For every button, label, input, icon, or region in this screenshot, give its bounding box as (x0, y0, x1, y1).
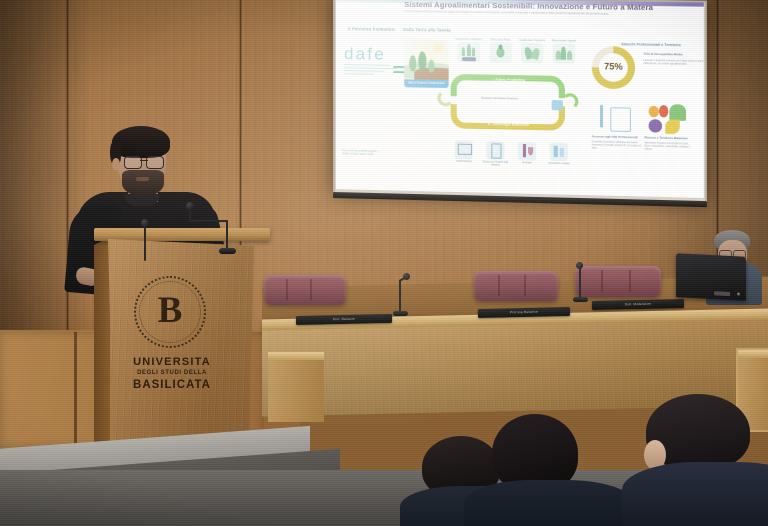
seal-letter: B (153, 292, 187, 332)
slide-section-kicker: Il Percorso Formativo: Dalla Terra alla … (348, 26, 451, 32)
small-icon-caption: Sicurezza e Qualita degli Alimenti (480, 161, 511, 168)
column-heading: Accesso agli Albi Professionali (592, 135, 642, 140)
panel-chair[interactable] (264, 275, 346, 305)
cycle-center-text: Struttura Interclasse Dinamica (481, 97, 538, 101)
donut-heading: 75% di Occupabilita Media (643, 53, 703, 58)
institution-line-3: BASILICATA (120, 378, 224, 392)
tree-icon (418, 51, 426, 70)
processing-icon (455, 141, 473, 160)
lab-illustration (596, 103, 644, 139)
podium-microphone (180, 198, 242, 260)
panel-microphone (390, 274, 412, 316)
small-icon-caption: Trasformazione (449, 161, 479, 165)
audience-head-right (628, 394, 768, 526)
institution-line-1: UNIVERSITA (120, 356, 224, 369)
donut-text-block: 75% di Occupabilita Media Laureati in po… (643, 53, 703, 66)
panelist (700, 230, 768, 304)
donut-body: Laureati in posizioni coerenti con il ti… (643, 58, 703, 65)
shoulders (464, 480, 634, 526)
cycle-arrow-left (438, 90, 454, 106)
cycle-arrow-right (562, 93, 578, 110)
shoulders (622, 462, 768, 526)
column-professional-access: Accesso agli Albi Professionali Possibil… (592, 135, 642, 151)
insect-icon (489, 42, 511, 63)
slide-small-icon-row: Trasformazione Sicurezza e Qualita degli… (449, 140, 578, 143)
icon-caption: Biotecnologie Vegetali (550, 39, 579, 42)
projection-screen[interactable]: Sistemi Agroalimentari Sostenibili: Inno… (333, 0, 707, 205)
slide-left-note: Focus sulla Sostenibilita Integrata — ri… (342, 150, 380, 157)
wall-lower-seam (74, 332, 77, 448)
conference-hall-photo: Sistemi Agroalimentari Sostenibili: Inno… (0, 0, 768, 526)
side-desk-top (738, 350, 768, 358)
fruit-shape (659, 105, 668, 117)
column-heading: Risorse e Territorio Materano (644, 136, 694, 141)
leaf-icon (521, 43, 544, 64)
slide-left-illustration-card: Basi e Scienze Fondamentali (404, 39, 448, 88)
laptop-brand-logo (714, 291, 730, 296)
small-icon-caption: Enologia (512, 162, 543, 166)
fruit-shape (649, 106, 659, 117)
panel-microphone (570, 262, 592, 302)
sun-icon (433, 44, 442, 53)
podium-microphone (134, 215, 158, 261)
wheat-icon (458, 42, 480, 63)
nameplate-text: Dott. Moderatore (592, 301, 684, 307)
side-desk-left (268, 352, 324, 422)
produce-illustration (647, 104, 695, 140)
greens-shape (669, 104, 686, 121)
column-body: Valorizzare il legame tra eccellenze loc… (644, 142, 694, 152)
column-territory-resources: Risorse e Territorio Materano Valorizzar… (644, 136, 694, 152)
institution-line-2: DEGLI STUDI DELLA (120, 369, 224, 378)
presentation-slide: Sistemi Agroalimentari Sostenibili: Inno… (336, 0, 704, 198)
side-desk-top (268, 352, 324, 360)
column-body: Possibilita di iscrizione all'Ordine dei… (592, 141, 642, 151)
lab-icon (550, 143, 568, 162)
tree-icon (428, 60, 434, 73)
icon-caption: Difesa delle Piante (486, 38, 515, 41)
donut-value-label: 75% (592, 61, 635, 72)
speaker-beard (122, 170, 164, 196)
eyeglasses-icon (124, 156, 164, 167)
employability-donut-chart: 75% 75% di Occupabilita Media Laureati i… (592, 46, 640, 94)
left-card-caption: Basi e Scienze Fondamentali (404, 79, 448, 88)
small-icon-caption: Laboratorio e Analisi (543, 163, 574, 167)
kicker-left-text: Il Percorso Formativo: (348, 26, 396, 32)
icon-caption: Agronomia e Coltivazioni (455, 38, 483, 41)
wine-icon (518, 142, 536, 161)
banana-shape (665, 119, 680, 134)
nameplate-text: Prof. Relatore (296, 316, 392, 322)
audience-head-center (478, 408, 608, 526)
speaker-mouth (136, 177, 149, 181)
podium-institution-text: UNIVERSITA DEGLI STUDI DELLA BASILICATA (120, 356, 224, 392)
clipboard-icon (486, 141, 504, 160)
panel-chair[interactable] (474, 271, 558, 301)
tree-icon (409, 55, 416, 71)
laptop-screen[interactable] (676, 253, 746, 301)
laptop-indicator-dot (737, 292, 740, 295)
kicker-right-text: Dalla Terra alla Tavola (403, 27, 451, 33)
dafe-logo: dafe (344, 46, 402, 77)
university-seal-logo: B (134, 276, 206, 348)
speaker-ear (112, 158, 120, 170)
grapes-shape (649, 119, 663, 133)
icon-caption: Qualita delle Produzioni (518, 39, 547, 42)
nameplate-text: Prof.ssa Relatrice (478, 309, 570, 315)
sprout-icon (553, 43, 576, 64)
screen-surface: Sistemi Agroalimentari Sostenibili: Inno… (336, 0, 704, 198)
cycle-diagram: I. Filiera Produttiva II. Tecnologie Ali… (447, 74, 571, 131)
dafe-wordmark: dafe (344, 46, 402, 63)
